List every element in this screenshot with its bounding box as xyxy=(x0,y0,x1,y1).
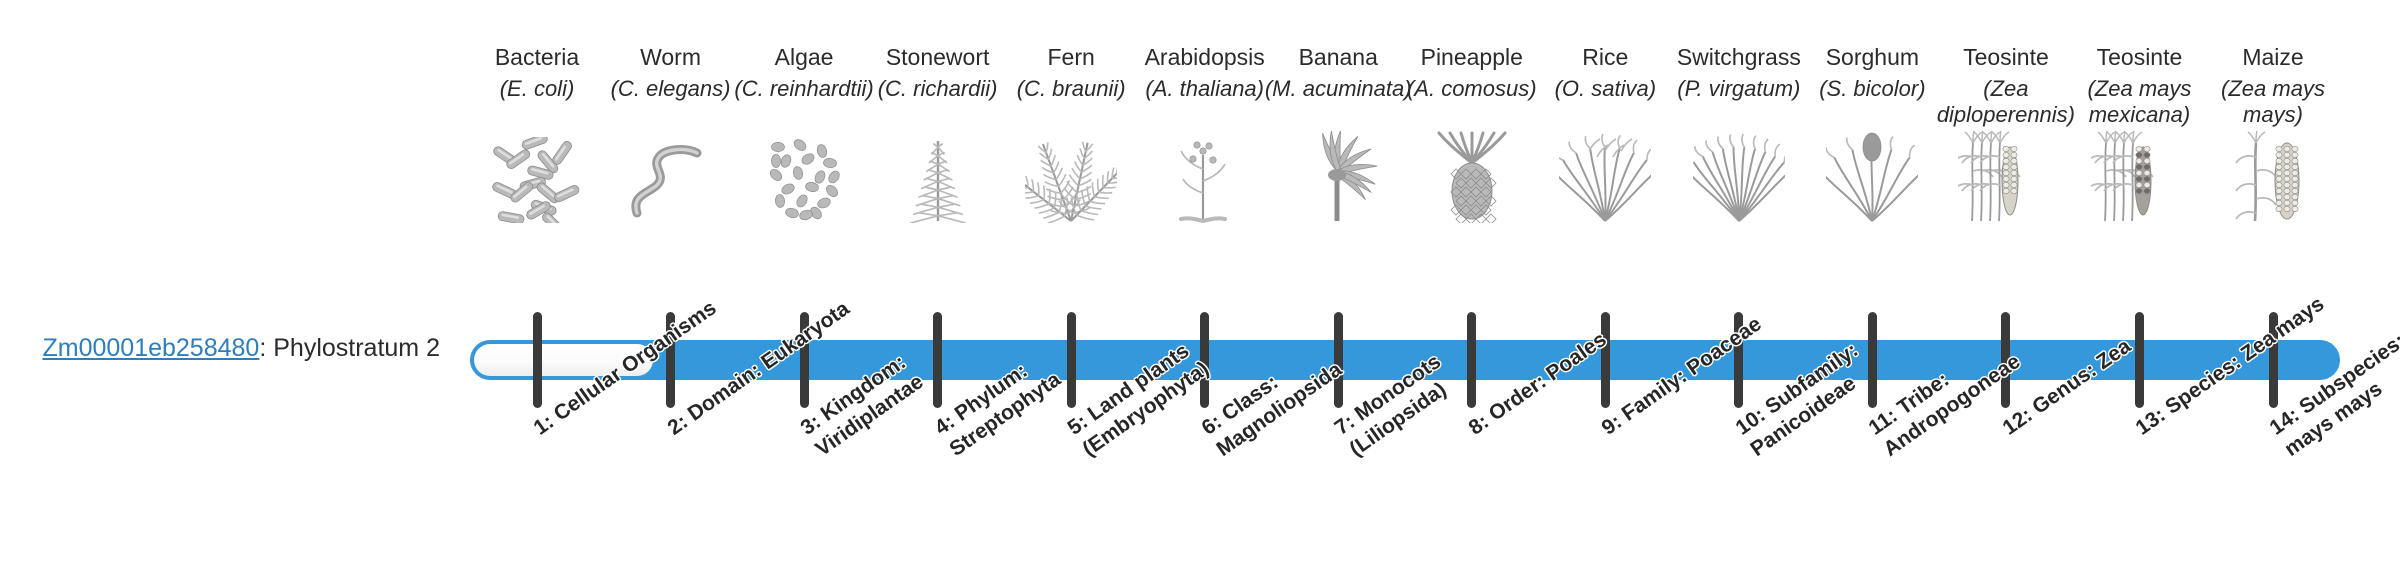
species-common-name: Bacteria xyxy=(462,44,612,71)
species-common-name: Fern xyxy=(996,44,1146,71)
maize-icon xyxy=(2198,138,2348,223)
gene-phylostratum-label: Zm00001eb258480: Phylostratum 2 xyxy=(40,333,440,363)
algae-icon xyxy=(729,138,879,223)
species-latin-name: (Zea diploperennis) xyxy=(1931,76,2081,128)
species-latin-name: (M. acuminata) xyxy=(1263,76,1413,102)
species-common-name: Teosinte xyxy=(2064,44,2214,71)
species-common-name: Algae xyxy=(729,44,879,71)
species-common-name: Maize xyxy=(2198,44,2348,71)
species-common-name: Arabidopsis xyxy=(1130,44,1280,71)
species-latin-name: (Zea mays mays) xyxy=(2198,76,2348,128)
bacteria-icon xyxy=(462,138,612,223)
species-latin-name: (C. braunii) xyxy=(996,76,1146,102)
phylostratum-tick xyxy=(533,312,542,408)
species-common-name: Stonewort xyxy=(863,44,1013,71)
species-common-name: Rice xyxy=(1530,44,1680,71)
species-latin-name: (A. comosus) xyxy=(1397,76,1547,102)
banana-icon xyxy=(1263,138,1413,223)
species-common-name: Switchgrass xyxy=(1664,44,1814,71)
species-latin-name: (S. bicolor) xyxy=(1797,76,1947,102)
species-common-name: Worm xyxy=(596,44,746,71)
species-latin-name: (C. reinhardtii) xyxy=(729,76,879,102)
species-latin-name: (C. elegans) xyxy=(596,76,746,102)
species-latin-name: (E. coli) xyxy=(462,76,612,102)
arabidopsis-icon xyxy=(1130,138,1280,223)
rice-icon xyxy=(1530,138,1680,223)
teosinte-mexicana-icon xyxy=(2064,138,2214,223)
gene-id-link[interactable]: Zm00001eb258480 xyxy=(42,334,259,362)
species-latin-name: (A. thaliana) xyxy=(1130,76,1280,102)
species-latin-name: (O. sativa) xyxy=(1530,76,1680,102)
species-latin-name: (C. richardii) xyxy=(863,76,1013,102)
sorghum-icon xyxy=(1797,138,1947,223)
worm-icon xyxy=(596,138,746,223)
species-common-name: Sorghum xyxy=(1797,44,1947,71)
species-common-name: Banana xyxy=(1263,44,1413,71)
species-common-name: Teosinte xyxy=(1931,44,2081,71)
teosinte-diploperennis-icon xyxy=(1931,138,2081,223)
fern-icon xyxy=(996,138,1146,223)
species-latin-name: (P. virgatum) xyxy=(1664,76,1814,102)
switchgrass-icon xyxy=(1664,138,1814,223)
species-latin-name: (Zea mays mexicana) xyxy=(2064,76,2214,128)
pineapple-icon xyxy=(1397,138,1547,223)
stonewort-icon xyxy=(863,138,1013,223)
gene-label-separator: : xyxy=(259,334,273,362)
phylostratum-value-text: Phylostratum 2 xyxy=(273,334,440,362)
phylostratum-diagram: Zm00001eb258480: Phylostratum 2 Bacteria… xyxy=(0,0,2400,580)
species-common-name: Pineapple xyxy=(1397,44,1547,71)
